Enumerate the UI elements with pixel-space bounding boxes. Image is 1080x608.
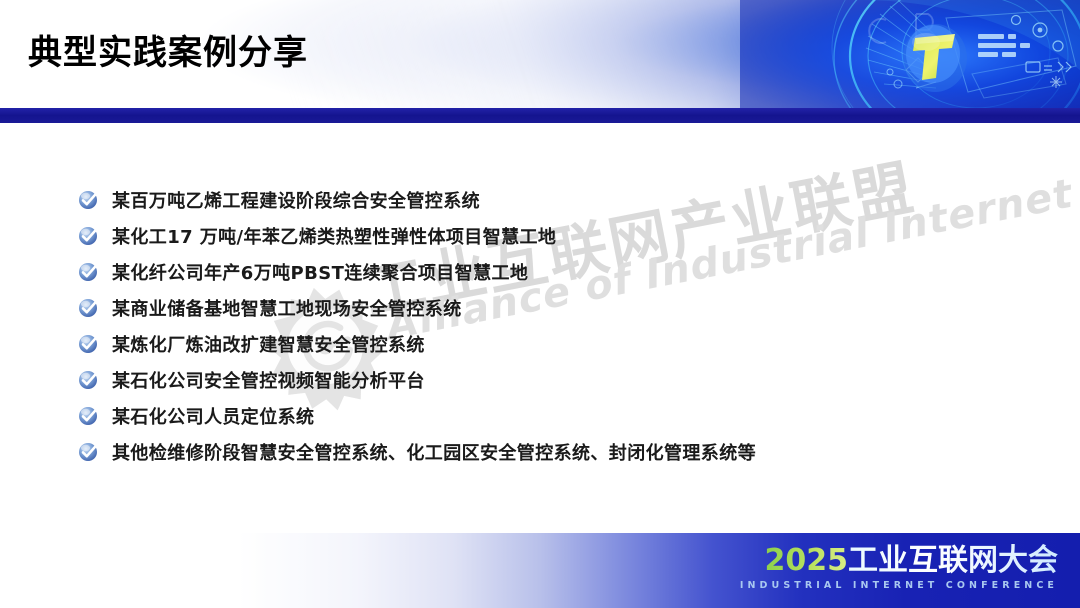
list-item-label: 某化工17 万吨/年苯乙烯类热塑性弹性体项目智慧工地 xyxy=(112,223,556,249)
title-divider-rule xyxy=(0,108,1080,123)
check-circle-icon xyxy=(78,369,100,391)
conference-logo-main: 2025工业互联网大会 xyxy=(740,546,1058,576)
list-item[interactable]: 某化工17 万吨/年苯乙烯类热塑性弹性体项目智慧工地 xyxy=(78,218,1008,254)
list-item-label: 某百万吨乙烯工程建设阶段综合安全管控系统 xyxy=(112,187,480,213)
list-item-label: 某炼化厂炼油改扩建智慧安全管控系统 xyxy=(112,331,425,357)
list-item[interactable]: 其他检维修阶段智慧安全管控系统、化工园区安全管控系统、封闭化管理系统等 xyxy=(78,434,1008,470)
list-item-label: 某石化公司人员定位系统 xyxy=(112,403,314,429)
tii-t-logo-icon xyxy=(903,24,967,92)
list-item-label: 某商业储备基地智慧工地现场安全管控系统 xyxy=(112,295,462,321)
list-item[interactable]: 某炼化厂炼油改扩建智慧安全管控系统 xyxy=(78,326,1008,362)
slide-root: 典型实践案例分享 工业互联网产业联盟 Alliance of Industria… xyxy=(0,0,1080,608)
conference-name-en: INDUSTRIAL INTERNET CONFERENCE xyxy=(740,581,1058,591)
page-title: 典型实践案例分享 xyxy=(28,36,308,70)
list-item-label: 某化纤公司年产6万吨PBST连续聚合项目智慧工地 xyxy=(112,259,528,285)
check-circle-icon xyxy=(78,405,100,427)
list-item[interactable]: 某石化公司人员定位系统 xyxy=(78,398,1008,434)
check-circle-icon xyxy=(78,441,100,463)
check-circle-icon xyxy=(78,189,100,211)
case-list: 某百万吨乙烯工程建设阶段综合安全管控系统 某化工17 万吨/年苯乙烯类热塑性弹性… xyxy=(78,182,1008,470)
list-item[interactable]: 某商业储备基地智慧工地现场安全管控系统 xyxy=(78,290,1008,326)
conference-name-cn: 工业互联网大会 xyxy=(848,543,1058,578)
check-circle-icon xyxy=(78,297,100,319)
list-item-label: 某石化公司安全管控视频智能分析平台 xyxy=(112,367,425,393)
tech-circuit-graphic-icon xyxy=(740,0,1080,108)
footer-banner: 2025工业互联网大会 INDUSTRIAL INTERNET CONFEREN… xyxy=(0,533,1080,608)
list-item-label: 其他检维修阶段智慧安全管控系统、化工园区安全管控系统、封闭化管理系统等 xyxy=(112,439,756,465)
check-circle-icon xyxy=(78,261,100,283)
list-item[interactable]: 某石化公司安全管控视频智能分析平台 xyxy=(78,362,1008,398)
list-item[interactable]: 某百万吨乙烯工程建设阶段综合安全管控系统 xyxy=(78,182,1008,218)
check-circle-icon xyxy=(78,333,100,355)
conference-year: 2025 xyxy=(765,543,849,578)
check-circle-icon xyxy=(78,225,100,247)
list-item[interactable]: 某化纤公司年产6万吨PBST连续聚合项目智慧工地 xyxy=(78,254,1008,290)
conference-logo: 2025工业互联网大会 INDUSTRIAL INTERNET CONFEREN… xyxy=(740,546,1058,591)
